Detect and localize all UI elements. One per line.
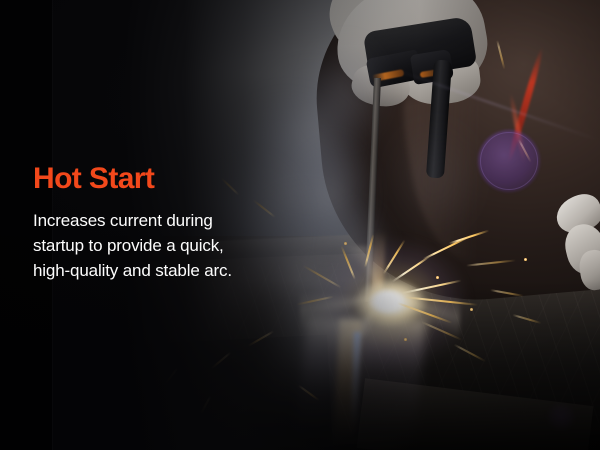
- hot-start-banner: Hot Start Increases current during start…: [0, 0, 600, 450]
- copy-block: Hot Start Increases current during start…: [33, 164, 333, 283]
- description-line-1: Increases current during: [33, 208, 333, 233]
- page-title: Hot Start: [33, 164, 333, 195]
- description-line-2: startup to provide a quick,: [33, 233, 333, 258]
- description-text: Increases current during startup to prov…: [33, 208, 333, 283]
- description-line-3: high-quality and stable arc.: [33, 258, 333, 283]
